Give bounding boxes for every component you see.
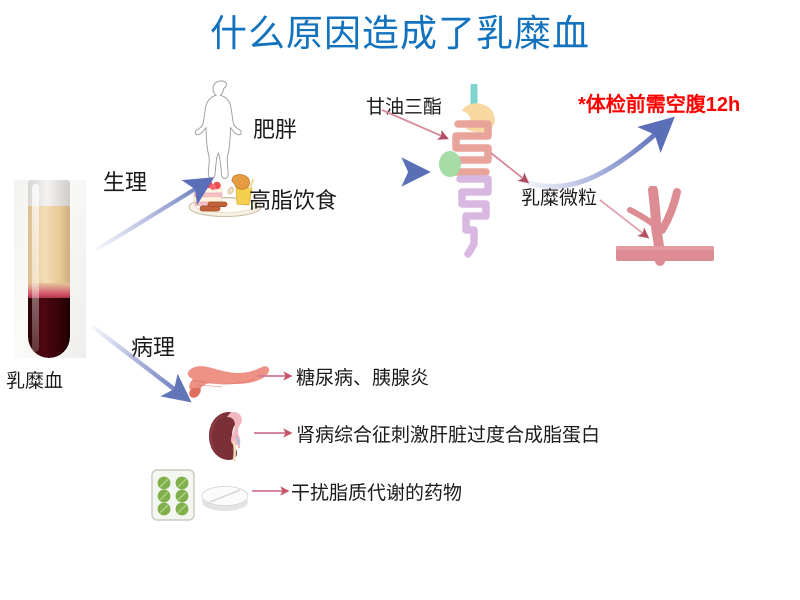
label-high-fat-diet: 高脂饮食 [249,183,337,215]
branch-label-physiological: 生理 [103,165,147,197]
pancreas-icon [182,358,274,402]
page-title: 什么原因造成了乳糜血 [0,14,800,55]
infographic-canvas: 什么原因造成了乳糜血 *体检前需空腹12h 乳糜血 肥胖 [0,0,800,600]
kidney-icon [203,408,253,464]
label-triglyceride: 甘油三酯 [366,92,442,119]
digestive-system-icon [430,84,540,262]
tube-caption: 乳糜血 [6,366,63,393]
blood-vessel-icon [612,186,727,268]
label-diabetes-pancreatitis: 糖尿病、胰腺炎 [296,363,429,390]
label-chylomicron: 乳糜微粒 [521,183,597,210]
label-nephrotic-syndrome: 肾病综合征刺激肝脏过度合成脂蛋白 [296,420,600,447]
chylous-blood-tube-photo [14,180,86,358]
arrow-curve-to-fasting-note [520,130,660,187]
fasting-note: *体检前需空腹12h [578,88,740,117]
pills-icon [150,466,260,522]
label-lipid-interfering-drugs: 干扰脂质代谢的药物 [291,478,462,505]
test-tube-highlight [32,184,39,352]
label-obesity: 肥胖 [253,112,297,144]
test-tube-glass [28,180,70,358]
branch-label-pathological: 病理 [131,330,175,362]
